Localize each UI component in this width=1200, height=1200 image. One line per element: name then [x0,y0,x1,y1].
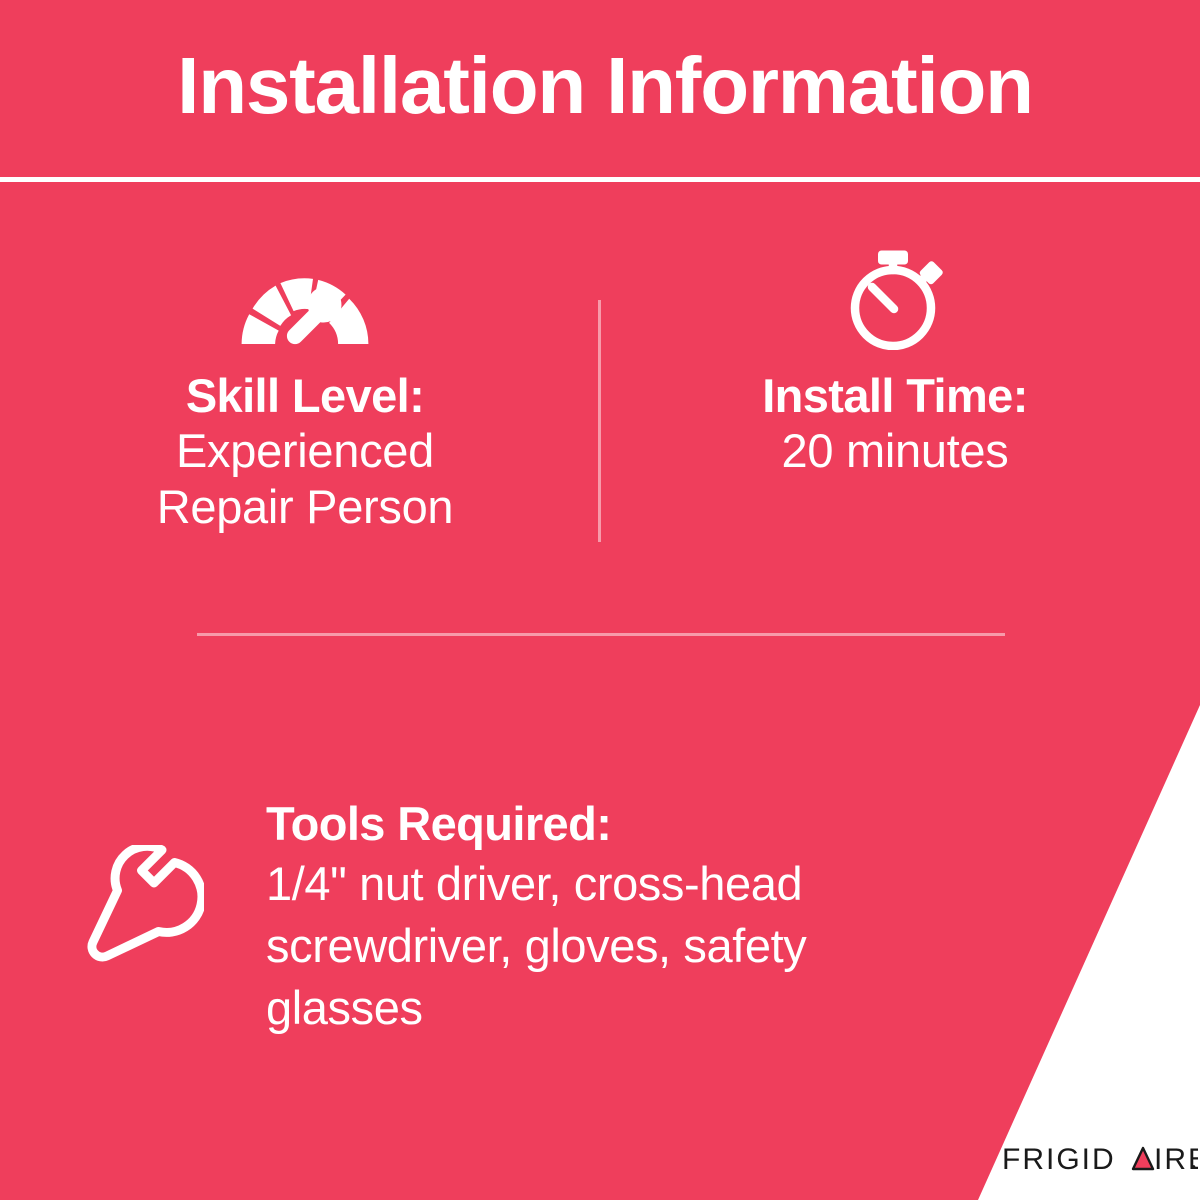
stopwatch-icon [640,250,1150,350]
tools-required-text: Tools Required: 1/4" nut driver, cross-h… [266,795,1006,1039]
logo-text-after-accent: IRE [1154,1143,1198,1176]
tools-required-value-line-1: 1/4" nut driver, cross-head [266,853,1006,915]
skill-level-value-line-2: Repair Person [55,479,555,535]
install-time-heading: Install Time: [640,368,1150,423]
tools-required-value-line-2: screwdriver, gloves, safety [266,915,1006,977]
install-time-block: Install Time: 20 minutes [640,250,1150,479]
gauge-wrench-icon [55,250,555,350]
page-title: Installation Information [100,38,1110,134]
horizontal-divider [197,633,1005,636]
skill-level-heading: Skill Level: [55,368,555,423]
tools-required-value-line-3: glasses [266,977,1006,1039]
wrench-icon [78,845,204,971]
header: Installation Information [0,0,1200,178]
logo-text-before-accent: FRIGID [1002,1143,1116,1176]
tools-required-block: Tools Required: 1/4" nut driver, cross-h… [0,795,1010,1055]
install-time-value: 20 minutes [640,423,1150,479]
header-divider [0,177,1200,182]
skill-level-value-line-1: Experienced [55,423,555,479]
frigidaire-logo: FRIGID IRE [1002,1140,1198,1180]
logo-registered-mark [1192,1165,1196,1169]
installation-information-card: Installation Information [0,0,1200,1200]
logo-accent-triangle [1133,1148,1153,1169]
vertical-divider [598,300,601,542]
tools-required-heading: Tools Required: [266,795,1006,853]
skill-level-block: Skill Level: Experienced Repair Person [55,250,555,535]
